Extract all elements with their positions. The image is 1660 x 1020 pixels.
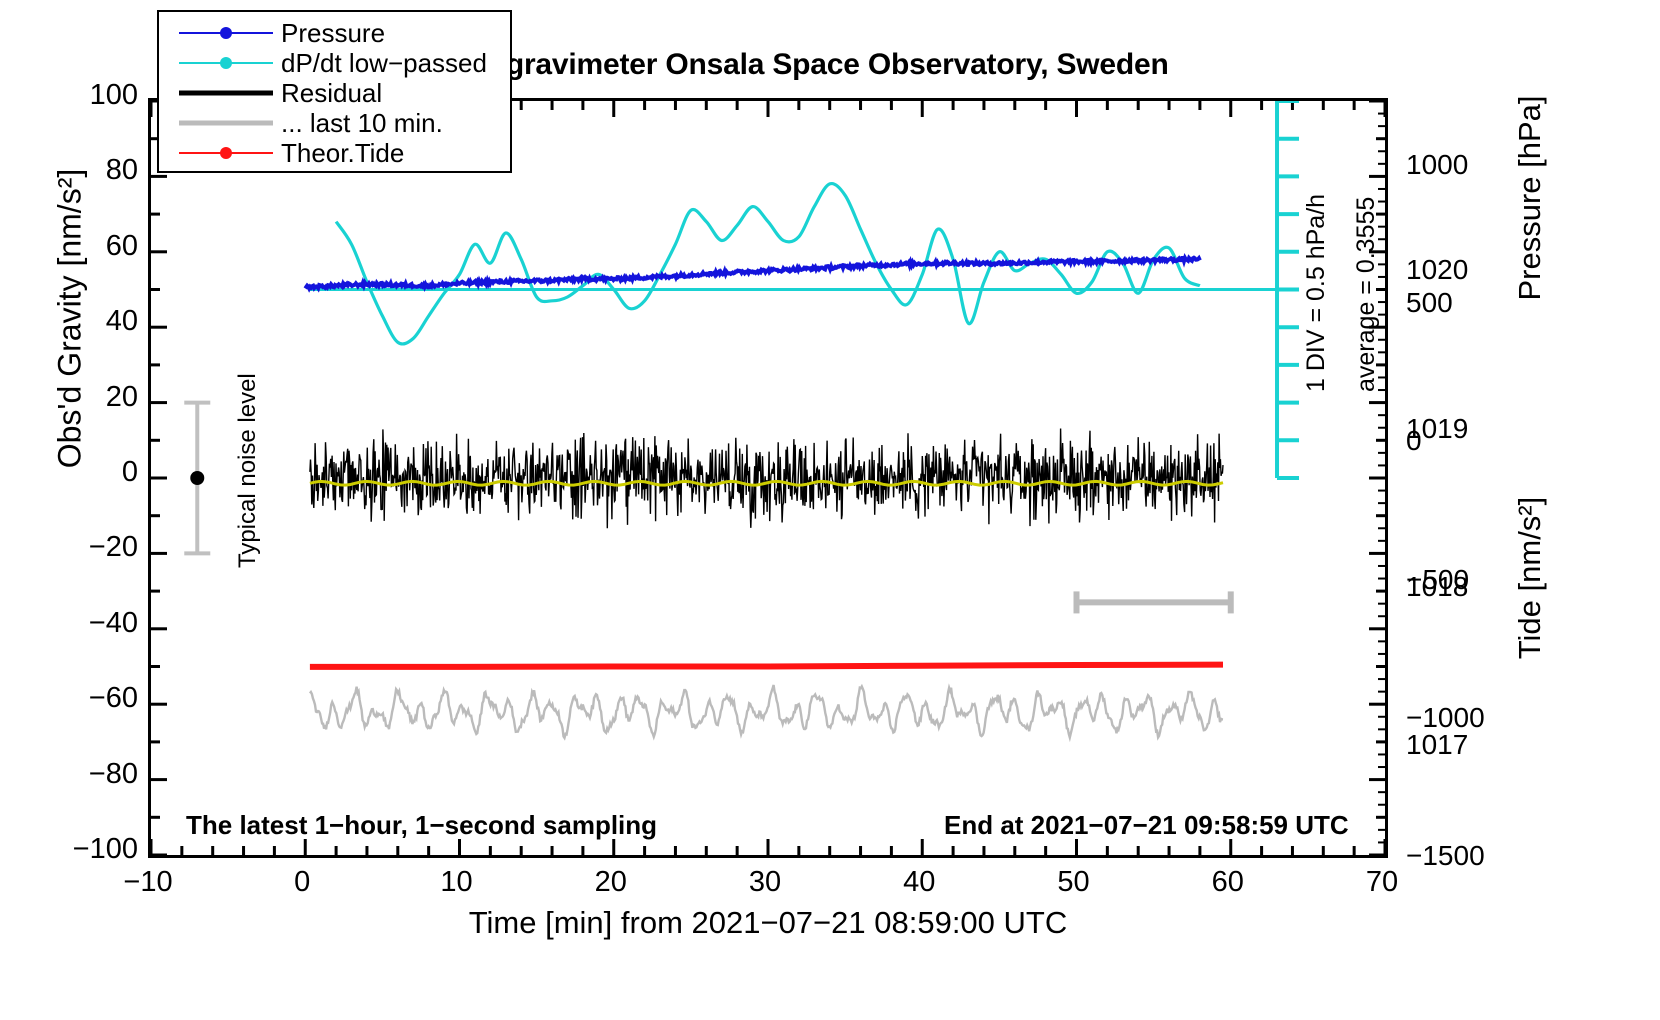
y-axis-right-pressure-label: Pressure [hPa] <box>1512 38 1548 358</box>
legend-swatch-icon <box>171 138 281 168</box>
typical-noise-level-label: Typical noise level <box>234 373 262 568</box>
y-tick-label: 60 <box>20 230 138 263</box>
tide-tick-label: −1500 <box>1406 840 1485 872</box>
y-tick-label: 0 <box>20 456 138 489</box>
legend-label: Pressure <box>281 18 385 48</box>
pressure-tick-label: 1020 <box>1406 254 1468 286</box>
x-tick-label: −10 <box>88 866 208 899</box>
y-tick-label: −20 <box>20 531 138 564</box>
legend-item-3[interactable]: ... last 10 min. <box>171 108 510 138</box>
x-tick-label: 30 <box>705 866 825 899</box>
x-tick-label: 40 <box>859 866 979 899</box>
y-tick-label: 20 <box>20 381 138 414</box>
tide-tick-label: 1000 <box>1406 149 1468 181</box>
legend-item-1[interactable]: dP/dt low−passed <box>171 48 510 78</box>
bottom-right-note: End at 2021−07−21 09:58:59 UTC <box>944 810 1349 841</box>
legend-item-2[interactable]: Residual <box>171 78 510 108</box>
legend-label: dP/dt low−passed <box>281 48 487 78</box>
legend-label: Theor.Tide <box>281 138 404 168</box>
y-tick-label: 40 <box>20 305 138 338</box>
tide-tick-label: 500 <box>1406 287 1453 319</box>
y-axis-right-tide-label: Tide [nm/s²] <box>1512 428 1548 728</box>
x-tick-label: 10 <box>397 866 517 899</box>
y-tick-label: −100 <box>20 833 138 866</box>
tide-tick-label: −1000 <box>1406 702 1485 734</box>
legend-swatch-icon <box>171 48 281 78</box>
legend-label: Residual <box>281 78 382 108</box>
legend-swatch-icon <box>171 108 281 138</box>
legend-item-0[interactable]: Pressure <box>171 18 510 48</box>
x-tick-label: 60 <box>1168 866 1288 899</box>
pressure-tick-label: 1017 <box>1406 729 1468 761</box>
legend-swatch-icon <box>171 18 281 48</box>
legend-swatch-icon <box>171 78 281 108</box>
x-tick-label: 20 <box>551 866 671 899</box>
x-axis-label: Time [min] from 2021−07−21 08:59:00 UTC <box>148 905 1388 941</box>
y-tick-label: −80 <box>20 758 138 791</box>
bottom-left-note: The latest 1−hour, 1−second sampling <box>186 810 657 841</box>
tide-tick-label: 0 <box>1406 425 1422 457</box>
div-scale-label: 1 DIV = 0.5 hPa/h <box>1302 194 1331 392</box>
chart-root: SCG_054 gravimeter Onsala Space Observat… <box>0 0 1660 1020</box>
y-tick-label: −60 <box>20 682 138 715</box>
y-tick-label: 80 <box>20 154 138 187</box>
plot-canvas <box>151 101 1385 855</box>
y-tick-label: −40 <box>20 607 138 640</box>
y-tick-label: 100 <box>20 79 138 112</box>
legend-item-4[interactable]: Theor.Tide <box>171 138 510 168</box>
x-tick-label: 0 <box>242 866 362 899</box>
plot-area <box>148 98 1388 858</box>
legend[interactable]: PressuredP/dt low−passedResidual... last… <box>157 10 512 173</box>
x-tick-label: 50 <box>1014 866 1134 899</box>
legend-label: ... last 10 min. <box>281 108 443 138</box>
average-label: average = 0.3555 <box>1352 197 1381 392</box>
tide-tick-label: −500 <box>1406 564 1469 596</box>
